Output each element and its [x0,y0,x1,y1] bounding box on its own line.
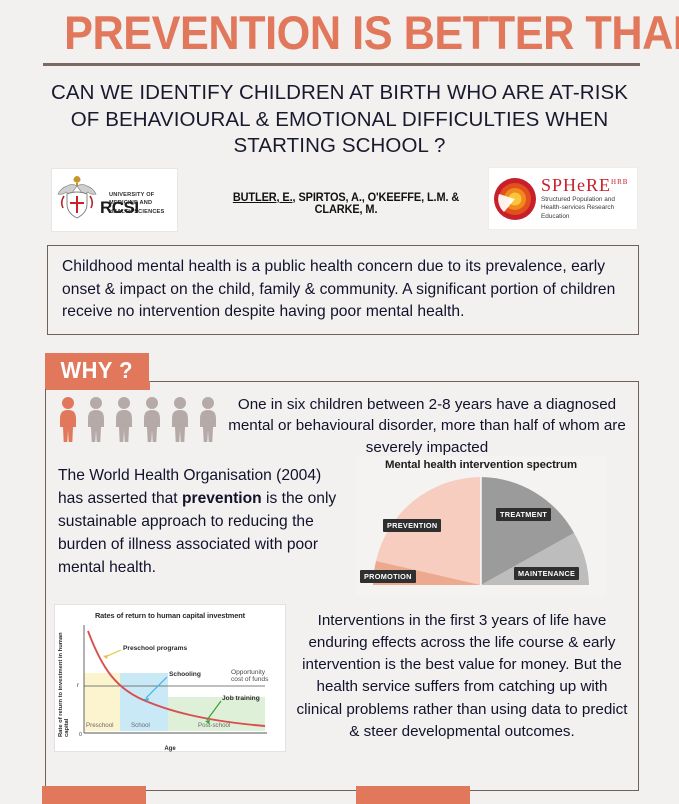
rcsi-crest-icon [56,174,98,226]
why-tab-label: WHY ? [47,357,133,384]
sphere-concentric-circles-icon [492,176,538,222]
intervention-statement: Interventions in the first 3 years of li… [294,610,630,743]
person-icon [112,396,136,443]
who-statement: The World Health Organisation (2004) has… [58,464,343,579]
rcsi-tagline: UNIVERSITY OF MEDICINE AND HEALTH SCIENC… [109,191,175,216]
slice-label-maintenance: MAINTENANCE [514,567,579,580]
why-content-box: One in six children between 2-8 years ha… [45,381,639,791]
intro-text: Childhood mental health is a public heal… [62,258,615,320]
person-icon [140,396,164,443]
heckman-annotation-schooling: Schooling [169,671,201,678]
person-icon [84,396,108,443]
person-icon [56,396,80,443]
person-icon [196,396,220,443]
spectrum-title: Mental health intervention spectrum [356,456,606,471]
title-divider [43,63,640,66]
author-list: BUTLER, E., SPIRTOS, A., O'KEEFFE, L.M. … [212,192,480,216]
person-icon [168,396,192,443]
page-title: PREVENTION IS BETTER THAN CURE [64,8,619,57]
sphere-name: SPHeREHRB [541,176,633,194]
heckman-annotation-opportunity-cost: Opportunity cost of funds [231,669,277,683]
bottom-tab-right [356,786,470,804]
rcsi-logo: RCSI UNIVERSITY OF MEDICINE AND HEALTH S… [51,168,178,232]
heckman-band-postschool: Post-school [198,722,230,729]
sphere-tagline: Structured Population and Health-service… [541,196,633,222]
slice-label-promotion: PROMOTION [360,570,416,583]
title-block: PREVENTION IS BETTER THAN CURE [0,0,679,66]
sphere-superscript: HRB [611,178,628,186]
heckman-curve-chart: Rates of return to human capital investm… [54,604,286,752]
heckman-annotation-jobtraining: Job training [222,695,260,702]
sphere-text: SPHeREHRB Structured Population and Heal… [541,176,633,222]
why-section-tab: WHY ? [45,353,149,389]
heckman-annotation-preschool: Preschool programs [123,645,187,652]
slice-label-treatment: TREATMENT [496,508,551,521]
sphere-logo: SPHeREHRB Structured Population and Heal… [488,167,638,230]
bottom-tab-left [42,786,146,804]
heckman-band-preschool: Preschool [86,722,114,729]
credits-row: RCSI UNIVERSITY OF MEDICINE AND HEALTH S… [0,165,679,237]
who-text-emphasis: prevention [182,490,262,507]
poster-subtitle: CAN WE IDENTIFY CHILDREN AT BIRTH WHO AR… [44,80,635,159]
author-lead: BUTLER, E., [233,192,296,204]
slice-label-prevention: PREVENTION [383,519,441,532]
intro-box: Childhood mental health is a public heal… [47,245,639,335]
statistic-text: One in six children between 2-8 years ha… [226,394,628,459]
poster-canvas: PREVENTION IS BETTER THAN CURE CAN WE ID… [0,0,679,804]
heckman-band-school: School [131,722,150,729]
author-rest: SPIRTOS, A., O'KEEFFE, L.M. & CLARKE, M. [296,192,460,216]
intervention-spectrum-chart: Mental health intervention spectrum PREV… [356,456,606,596]
people-pictogram [56,396,226,443]
